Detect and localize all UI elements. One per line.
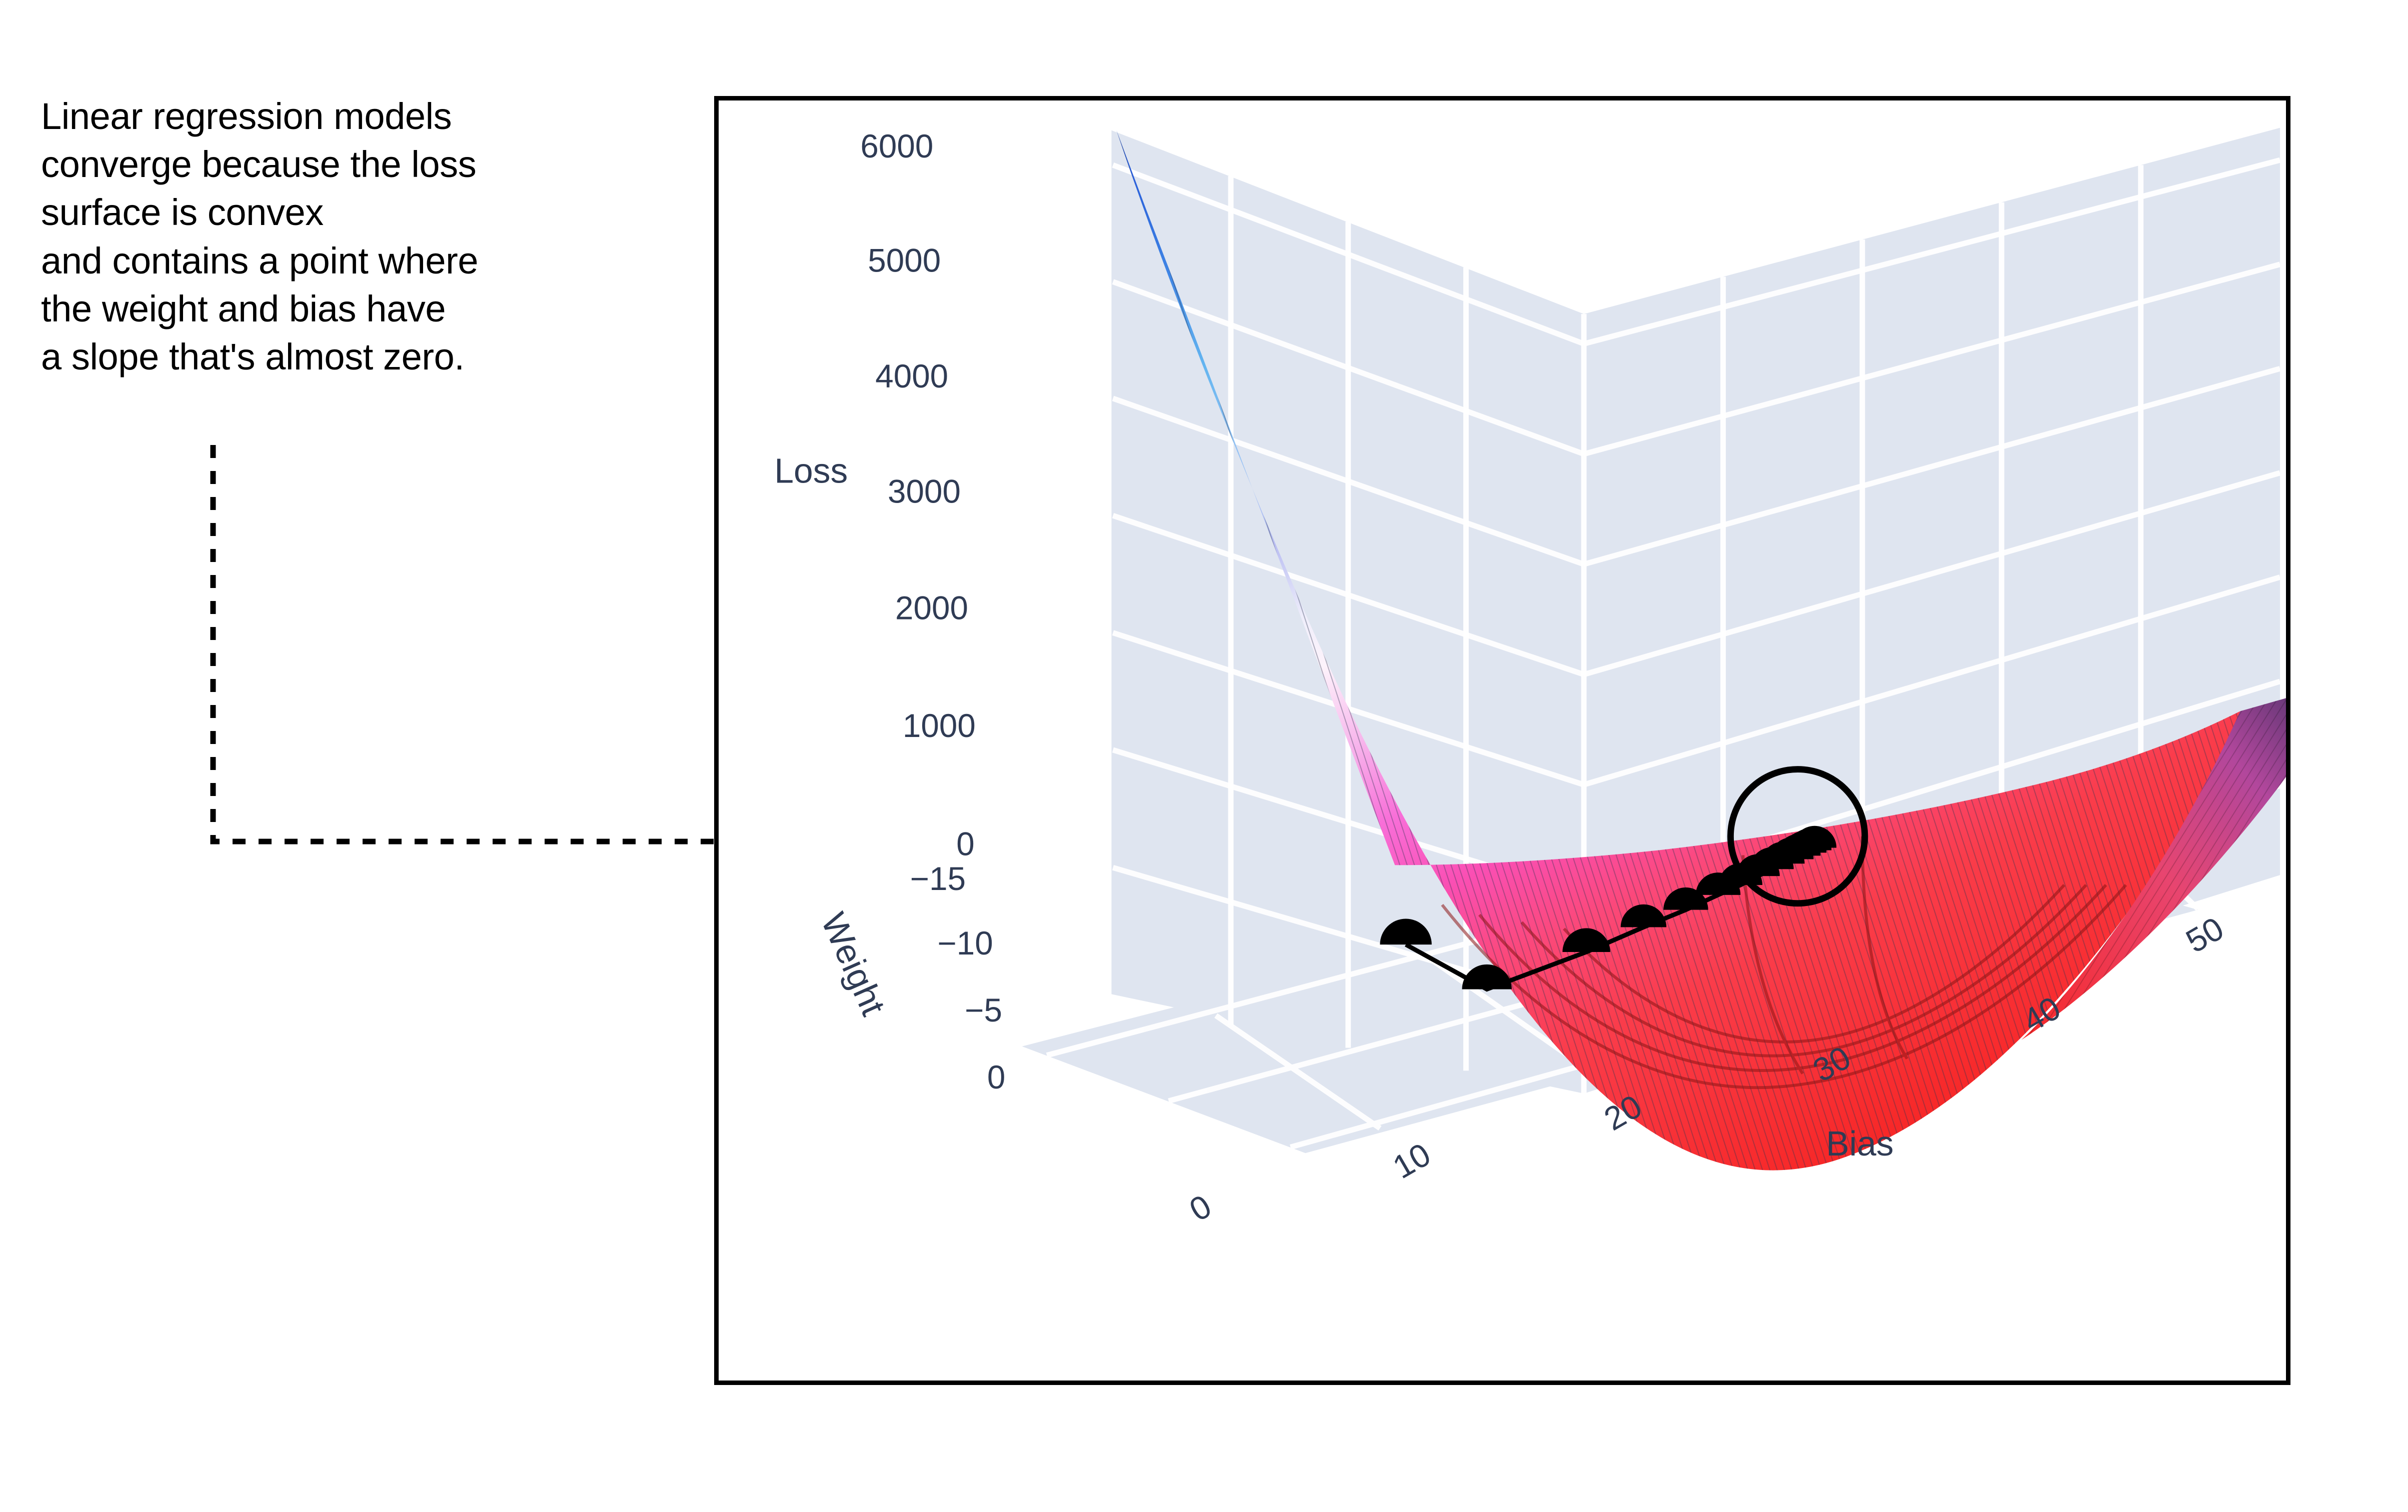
caption-text: Linear regression models converge becaus… xyxy=(41,92,671,381)
bias-tick-0: 0 xyxy=(1183,1187,1217,1228)
figure-frame: 6000 5000 4000 3000 2000 1000 0 Loss −15… xyxy=(714,96,2290,1385)
axis-weight: −15 −10 −5 0 Weight xyxy=(814,860,1005,1095)
loss-tick-6000: 6000 xyxy=(860,128,933,164)
page-root: Linear regression models converge becaus… xyxy=(0,0,2408,1512)
weight-tick-neg10: −10 xyxy=(937,925,993,961)
loss-tick-4000: 4000 xyxy=(875,358,948,394)
loss-tick-2000: 2000 xyxy=(895,590,968,626)
axis-loss: 6000 5000 4000 3000 2000 1000 0 Loss xyxy=(774,128,976,862)
loss-tick-1000: 1000 xyxy=(903,707,976,744)
bias-tick-50: 50 xyxy=(2180,910,2230,960)
weight-tick-0: 0 xyxy=(987,1059,1006,1095)
weight-tick-neg5: −5 xyxy=(965,992,1002,1028)
loss-surface-plot: 6000 5000 4000 3000 2000 1000 0 Loss −15… xyxy=(719,100,2286,1380)
weight-axis-title: Weight xyxy=(814,907,893,1021)
loss-tick-5000: 5000 xyxy=(868,242,941,279)
loss-tick-3000: 3000 xyxy=(888,473,961,509)
loss-tick-0: 0 xyxy=(956,825,975,862)
loss-axis-title: Loss xyxy=(774,451,848,490)
bias-tick-10: 10 xyxy=(1387,1136,1437,1186)
bias-axis-title: Bias xyxy=(1826,1124,1893,1163)
weight-tick-neg15: −15 xyxy=(910,860,966,897)
